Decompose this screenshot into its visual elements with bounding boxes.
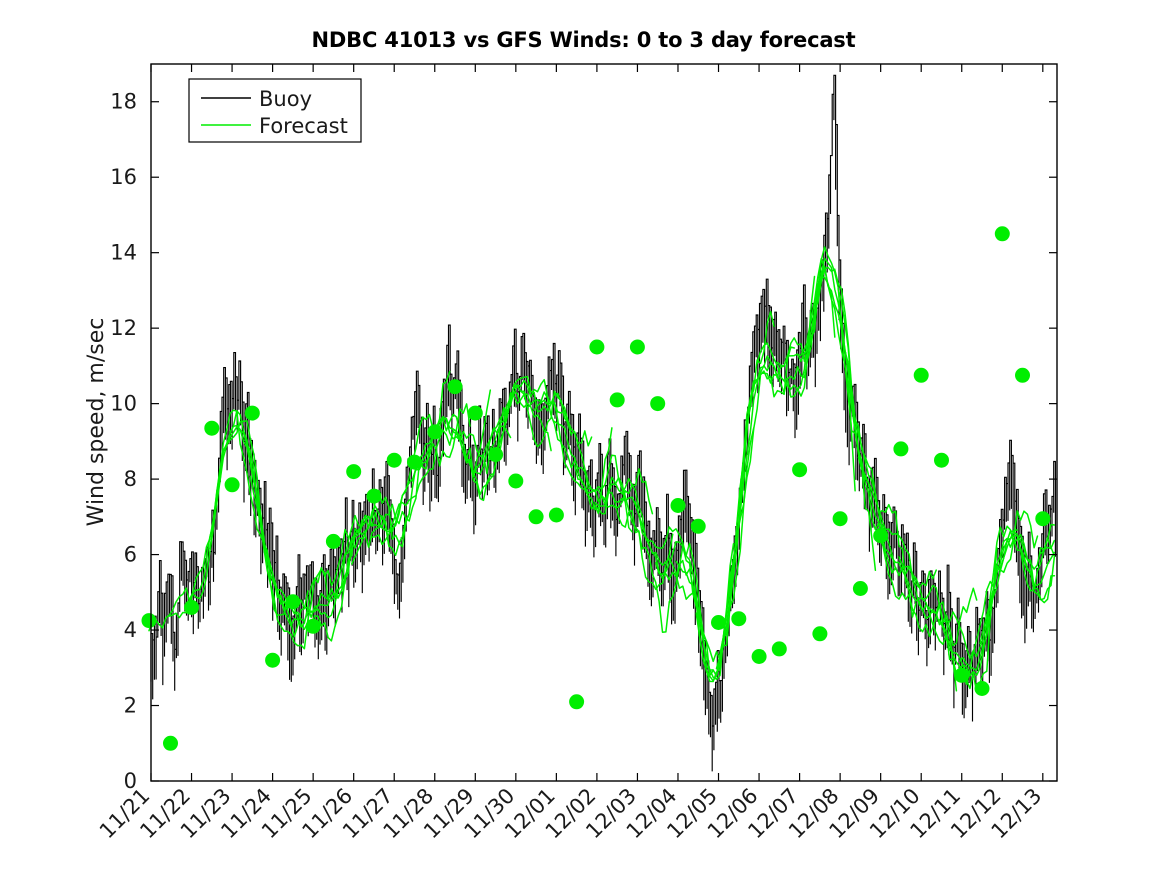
forecast-init-marker [142,613,157,628]
forecast-init-marker [873,528,888,543]
forecast-init-marker [954,668,969,683]
y-axis-label: Wind speed, m/sec [84,318,109,527]
forecast-init-marker [204,421,219,436]
forecast-init-marker [995,226,1010,241]
forecast-init-marker [772,641,787,656]
forecast-init-marker [752,649,767,664]
forecast-init-marker [975,681,990,696]
forecast-init-marker [691,519,706,534]
forecast-init-marker [427,424,442,439]
axes-group [151,64,1057,781]
y-tick-label: 12 [110,316,137,340]
forecast-line [838,289,956,691]
chart-plot-area: 02468101214161811/2111/2211/2311/2411/25… [0,0,1167,875]
forecast-init-marker [346,464,361,479]
series-group [149,75,1055,771]
forecast-init-marker [650,396,665,411]
y-tick-label: 10 [110,392,137,416]
forecast-init-marker [853,581,868,596]
forecast-init-marker [731,611,746,626]
y-tick-label: 8 [124,467,137,491]
forecast-init-marker [407,455,422,470]
forecast-init-marker [163,736,178,751]
forecast-init-marker [569,694,584,709]
y-tick-label: 18 [110,90,137,114]
y-tick-label: 14 [110,241,137,265]
forecast-init-marker [468,406,483,421]
legend: BuoyForecast [189,79,361,142]
forecast-init-marker [1015,368,1030,383]
legend-label-buoy: Buoy [259,87,312,111]
forecast-init-marker [589,340,604,355]
forecast-init-marker [387,453,402,468]
forecast-line [676,347,794,676]
forecast-init-marker [488,447,503,462]
forecast-init-marker [630,340,645,355]
forecast-init-marker [711,615,726,630]
forecast-init-marker [225,477,240,492]
forecast-init-marker [508,474,523,489]
forecast-init-marker [529,509,544,524]
forecast-init-marker [184,600,199,615]
y-tick-label: 2 [124,694,137,718]
y-axis-label-group: Wind speed, m/sec [84,318,109,527]
y-tick-label: 16 [110,165,137,189]
forecast-init-marker [671,498,686,513]
forecast-init-marker [833,511,848,526]
y-tick-label: 6 [124,543,137,567]
forecast-init-marker [549,508,564,523]
legend-label-forecast: Forecast [259,114,348,138]
buoy-line [151,75,1055,771]
forecast-init-marker [245,406,260,421]
forecast-init-marker [306,619,321,634]
forecast-line [494,380,612,492]
y-tick-label: 4 [124,618,137,642]
forecast-init-marker [1035,511,1050,526]
forecast-init-marker [610,392,625,407]
forecast-init-marker [265,653,280,668]
chart-page: NDBC 41013 vs GFS Winds: 0 to 3 day fore… [0,0,1167,875]
forecast-init-marker [285,594,300,609]
forecast-init-marker [934,453,949,468]
forecast-init-marker [448,379,463,394]
forecast-init-marker [812,626,827,641]
forecast-init-marker [893,441,908,456]
forecast-init-marker [367,489,382,504]
plot-frame [151,64,1057,781]
forecast-init-marker [792,462,807,477]
forecast-init-marker [914,368,929,383]
forecast-init-marker [326,534,341,549]
